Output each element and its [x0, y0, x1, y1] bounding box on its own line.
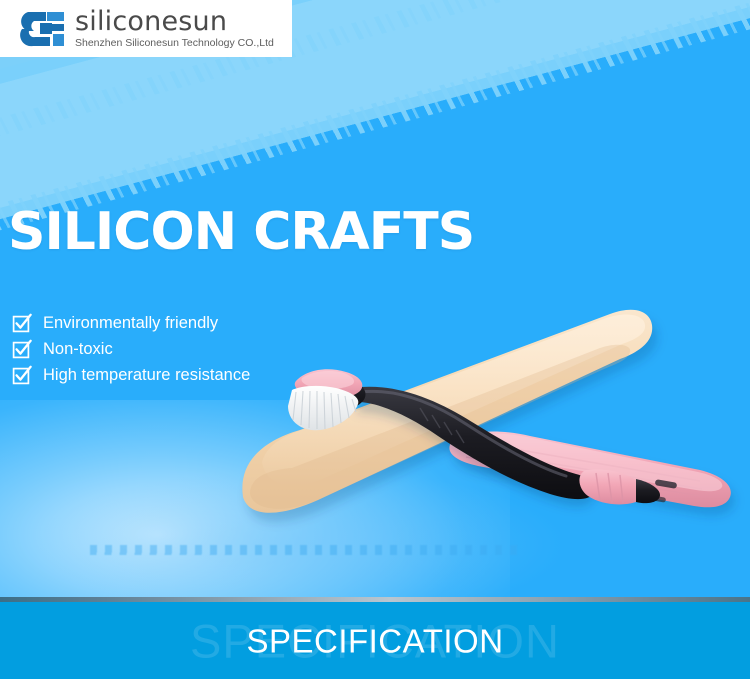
list-item: Environmentally friendly [12, 310, 250, 336]
siliconesun-s-logo-icon [20, 9, 66, 49]
list-item: High temperature resistance [12, 362, 250, 388]
company-logo-plate: siliconesun Shenzhen Siliconesun Technol… [0, 0, 292, 57]
feature-label: High temperature resistance [43, 367, 250, 384]
background-wisp [90, 545, 520, 555]
feature-label: Non-toxic [43, 341, 113, 358]
checkbox-checked-icon [12, 313, 32, 333]
logo-tagline: Shenzhen Siliconesun Technology CO.,Ltd [75, 38, 274, 49]
feature-list: Environmentally friendly Non-toxic High … [12, 310, 250, 388]
product-banner: nnn [0, 0, 750, 679]
specification-label: SPECIFICATION [0, 624, 750, 657]
checkbox-checked-icon [12, 365, 32, 385]
feature-label: Environmentally friendly [43, 315, 218, 332]
list-item: Non-toxic [12, 336, 250, 362]
page-title: SILICON CRAFTS [8, 206, 474, 258]
logo-text-group: siliconesun Shenzhen Siliconesun Technol… [75, 8, 274, 49]
logo-wordmark: siliconesun [75, 8, 274, 35]
checkbox-checked-icon [12, 339, 32, 359]
specification-bar: SPECIFICATION SPECIFICATION [0, 602, 750, 679]
